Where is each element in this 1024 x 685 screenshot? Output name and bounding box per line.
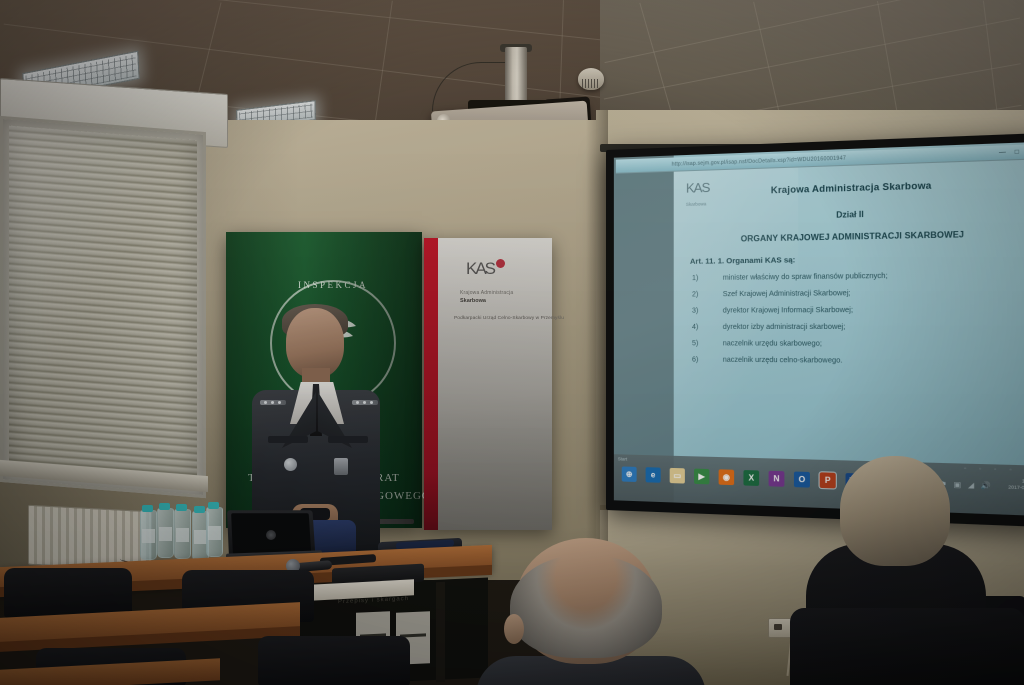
slide-list-item-number: 6) (692, 356, 723, 363)
bottle-cap (194, 506, 205, 513)
slide-list-item-text: minister właściwy do spraw finansów publ… (723, 273, 888, 282)
audience-chair (258, 636, 410, 685)
outlet-socket-hole (774, 624, 782, 630)
conference-room-photo: INSPEKCJA DROGOWEGO TR RAT GOWEGO KAS Kr… (0, 0, 1024, 685)
window-frame (0, 116, 206, 498)
water-bottle (174, 509, 191, 559)
slide-heading: ORGANY KRAJOWEJ ADMINISTRACJI SKARBOWEJ (688, 229, 1023, 245)
water-bottle (206, 507, 223, 557)
man-ear (504, 614, 524, 644)
slide-list-item-number: 4) (692, 324, 723, 331)
slide-list-item-text: dyrektor izby administracji skarbowej; (723, 324, 846, 331)
slide-list-item-number: 2) (692, 291, 723, 298)
laptop-lid-logo (266, 530, 276, 540)
audience-chair (4, 568, 132, 618)
presentation-slide: KAS Skarbowa Krajowa Administracja Skarb… (674, 159, 1024, 465)
smoke-detector (578, 68, 604, 90)
firefox-icon[interactable]: ◉ (719, 469, 734, 485)
slide-numbered-list: 1)minister właściwy do spraw finansów pu… (688, 271, 1023, 366)
rollup-banner-kas: KAS Krajowa Administracja Skarbowa Podka… (424, 238, 552, 530)
slide-list-item-text: Szef Krajowej Administracji Skarbowej; (723, 290, 851, 298)
file-explorer-icon[interactable]: ▭ (670, 468, 685, 484)
woman-chair-back (790, 608, 1024, 685)
bottle-cap (142, 505, 153, 512)
audience-man-foreground (500, 528, 676, 685)
slide-list-item: 1)minister właściwy do spraw finansów pu… (688, 271, 1023, 282)
slide-kas-logo: KAS Skarbowa (686, 180, 721, 208)
slide-logo-mark: KAS (686, 180, 721, 194)
rank-star-icon (264, 401, 267, 404)
bottle-cap (208, 502, 219, 509)
internet-explorer-icon[interactable]: e (646, 467, 661, 483)
slide-list-item-text: dyrektor Krajowej Informacji Skarbowej; (723, 307, 853, 315)
projection-dark-margin (614, 155, 674, 502)
start-orb-icon[interactable]: ⊕ (622, 466, 637, 482)
slide-list-item: 6)naczelnik urzędu celno-skarbowego. (688, 356, 1023, 366)
man-hair (510, 554, 662, 658)
venetian-blinds[interactable] (9, 126, 197, 489)
clock-date: 2017-07-05 (1008, 484, 1024, 491)
slide-list-item-number: 5) (692, 340, 723, 347)
excel-icon[interactable]: X (743, 470, 759, 486)
bottle-cap (159, 503, 170, 510)
slide-list-item-number: 1) (692, 275, 723, 282)
media-player-icon[interactable]: ▶ (694, 469, 709, 485)
slide-list-item-text: naczelnik urzędu skarbowego; (723, 340, 822, 348)
window-controls[interactable]: — □ ✕ (999, 147, 1024, 156)
slide-title: Krajowa Administracja Skarbowa (688, 177, 1023, 197)
slide-list-item-number: 3) (692, 307, 723, 314)
presenter-insignia (334, 458, 348, 475)
rank-star-icon (363, 401, 366, 404)
banner-red-accent-stripe (424, 238, 438, 530)
onenote-icon[interactable]: N (769, 471, 785, 487)
taskbar-status-text: Start (618, 456, 627, 461)
slide-logo-sub: Skarbowa (686, 201, 721, 207)
slide-article-line: Art. 11. 1. Organami KAS są: (688, 252, 1023, 266)
desk-leg (436, 582, 445, 682)
presenter-service-badge (284, 458, 297, 471)
bottle-cap (176, 504, 187, 511)
rank-star-icon (356, 401, 359, 404)
water-bottle (140, 510, 157, 560)
presenter-pocket-right (328, 436, 368, 443)
woman-hair (840, 456, 950, 566)
taskbar-clock[interactable]: 12:18 2017-07-05 (1008, 478, 1024, 492)
blind-light-sheen (9, 126, 197, 489)
slide-list-item: 4)dyrektor izby administracji skarbowej; (688, 323, 1023, 331)
water-bottles-group (140, 496, 230, 560)
rank-star-icon (370, 401, 373, 404)
presenter-pocket-left (268, 436, 308, 443)
projector-mount-pole (505, 47, 527, 105)
slide-list-item: 3)dyrektor Krajowej Informacji Skarbowej… (688, 306, 1023, 315)
slide-list-item: 5)naczelnik urzędu skarbowego; (688, 340, 1023, 348)
slide-section-label: Dział II (688, 206, 1023, 223)
wall-corner-shadow (586, 110, 608, 580)
rank-star-icon (271, 401, 274, 404)
slide-list-item: 2)Szef Krajowej Administracji Skarbowej; (688, 289, 1023, 299)
slide-list-item-text: naczelnik urzędu celno-skarbowego. (723, 357, 843, 365)
rank-star-icon (278, 401, 281, 404)
water-bottle (157, 508, 174, 558)
